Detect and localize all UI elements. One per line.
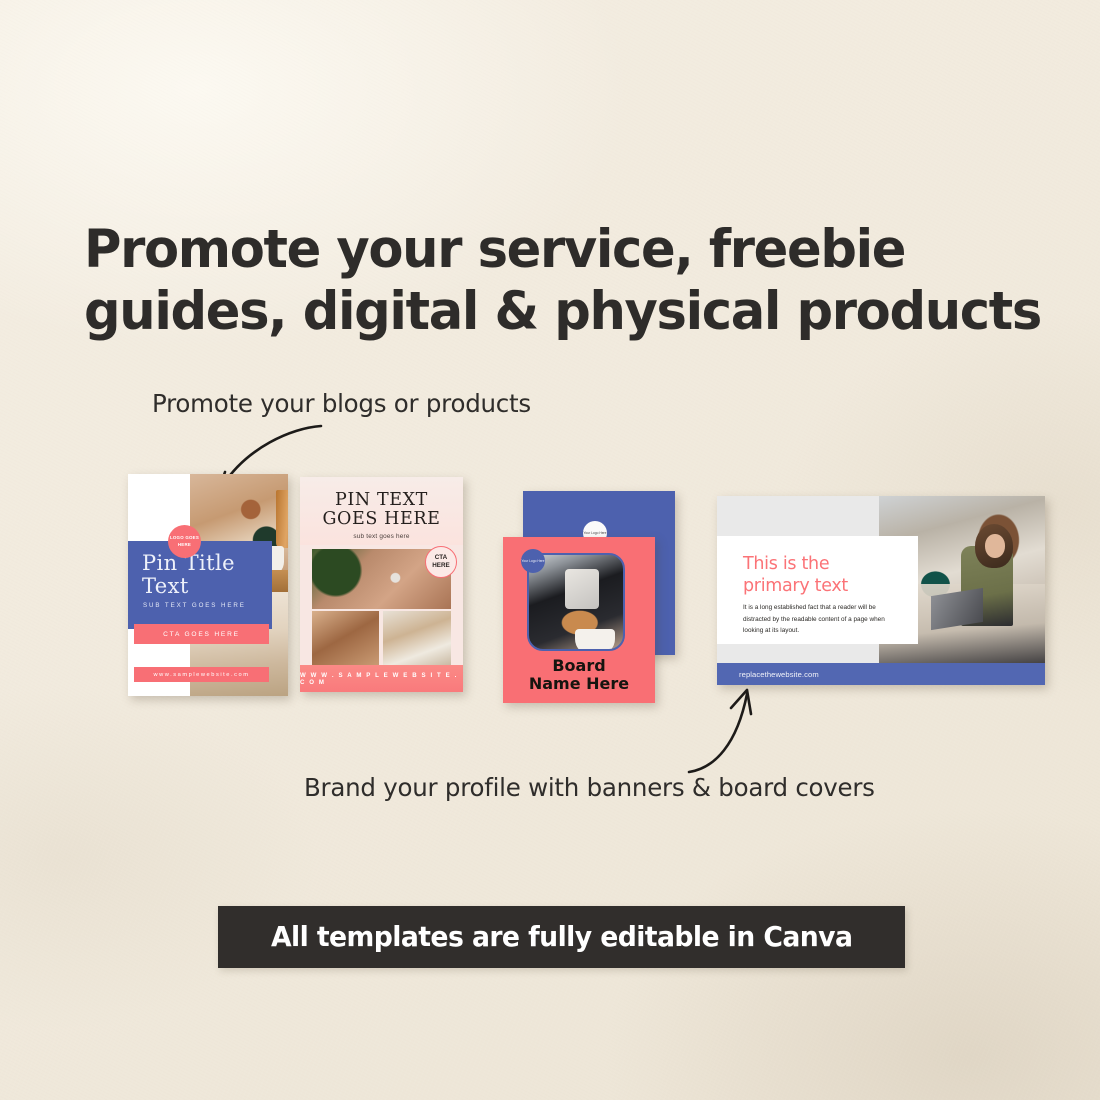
page-title-line-1: Promote your service, freebie (84, 219, 1001, 281)
cta-banner-label: All templates are fully editable in Canv… (271, 921, 852, 953)
annotation-bottom-label: Brand your profile with banners & board … (304, 773, 875, 802)
banner-body-text: It is a long established fact that a rea… (743, 602, 895, 637)
card2-url-bar: W W W . S A M P L E W E B S I T E . C O … (300, 665, 463, 692)
card2-title-line-1: PIN TEXT (300, 492, 463, 510)
card1-logo-badge: LOGO GOES HERE (168, 525, 201, 558)
page-title-line-2: guides, digital & physical products (84, 281, 1001, 343)
banner-url-label: replacethewebsite.com (739, 670, 819, 679)
card2-photo-ring (312, 611, 379, 665)
banner-heading-line-2: primary text (743, 576, 848, 596)
template-card-board-cover-front[interactable]: Your Logo Here Board Name Here (503, 537, 655, 703)
banner-heading-line-1: This is the (743, 554, 829, 574)
board-front-logo-label: Your Logo Here (522, 559, 545, 564)
card1-url-label: www.samplewebsite.com (153, 672, 249, 678)
curved-arrow-icon (685, 682, 795, 777)
poster-canvas: Promote your service, freebie guides, di… (0, 0, 1100, 1100)
card1-title: Pin Title Text (142, 552, 272, 597)
card1-cta-label: CTA GOES HERE (163, 631, 240, 638)
template-card-pin-text[interactable]: PIN TEXT GOES HERE sub text goes here CT… (300, 477, 463, 692)
moka-pot-shape (276, 490, 288, 548)
page-title: Promote your service, freebie guides, di… (84, 219, 1001, 343)
board-front-name: Board Name Here (503, 657, 655, 692)
card2-url-label: W W W . S A M P L E W E B S I T E . C O … (300, 672, 463, 686)
card2-cta-label: CTAHERE (432, 554, 450, 570)
milk-pitcher-shape (565, 569, 599, 609)
card1-title-line-2: Text (142, 574, 189, 598)
board-front-name-line-1: Board (552, 656, 605, 675)
card1-subtitle: SUB TEXT GOES HERE (143, 602, 246, 609)
banner-url-bar: replacethewebsite.com (717, 663, 1045, 685)
coffee-cup-shape (575, 629, 615, 651)
board-back-logo-label: Your Logo Here (584, 531, 607, 536)
card2-title-line-2: GOES HERE (300, 511, 463, 529)
annotation-top-label: Promote your blogs or products (152, 389, 531, 418)
board-front-logo-badge: Your Logo Here (521, 549, 545, 573)
card2-cta-badge[interactable]: CTAHERE (425, 546, 457, 578)
cta-banner: All templates are fully editable in Canv… (218, 906, 905, 968)
card2-subtitle: sub text goes here (300, 533, 463, 540)
card1-url-bar: www.samplewebsite.com (134, 667, 269, 682)
board-front-name-line-2: Name Here (529, 674, 629, 693)
banner-heading: This is the primary text (743, 554, 913, 597)
card1-logo-badge-label: LOGO GOES HERE (168, 535, 201, 548)
card2-photo-earrings (383, 611, 451, 665)
card1-cta-button[interactable]: CTA GOES HERE (134, 624, 269, 644)
person-face-shape (985, 534, 1005, 558)
template-card-pin-title[interactable]: Pin Title Text SUB TEXT GOES HERE CTA GO… (128, 474, 288, 696)
template-card-banner[interactable]: This is the primary text It is a long es… (717, 496, 1045, 685)
